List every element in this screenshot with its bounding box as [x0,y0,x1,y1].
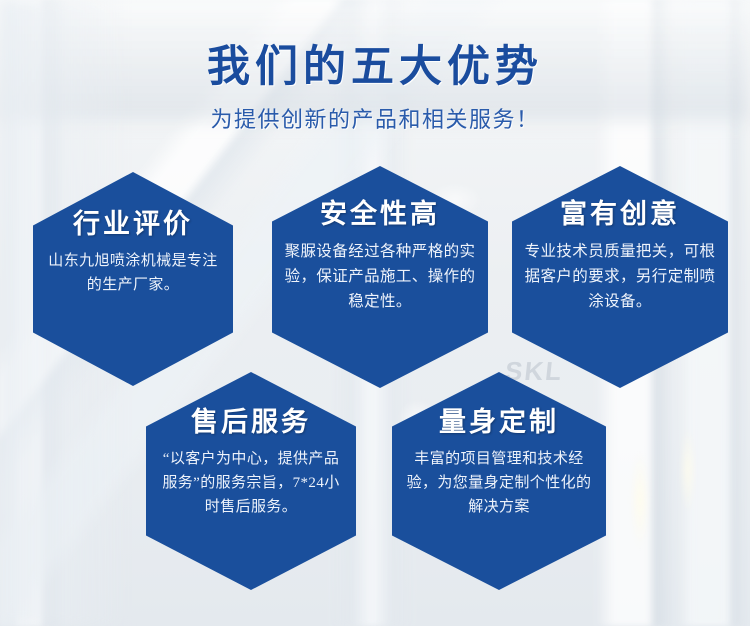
page-title: 我们的五大优势 [0,0,750,92]
advantage-card-content: 富有创意 专业技术员质量把关，可根据客户的要求，另行定制喷涂设备。 [512,200,728,314]
advantage-title: 行业评价 [45,210,221,240]
advantage-card-content: 安全性高 聚脲设备经过各种严格的实验，保证产品施工、操作的稳定性。 [272,200,488,314]
advantage-title: 售后服务 [158,408,344,438]
advantage-card-content: 行业评价 山东九旭喷涂机械是专注的生产厂家。 [33,210,233,297]
advantage-body: 丰富的项目管理和技术经验，为您量身定制个性化的解决方案 [404,447,594,520]
advantage-body: 专业技术员质量把关，可根据客户的要求，另行定制喷涂设备。 [524,239,716,314]
advantage-body: 聚脲设备经过各种严格的实验，保证产品施工、操作的稳定性。 [284,239,476,314]
advantage-card-content: 售后服务 “以客户为中心，提供产品服务”的服务宗旨，7*24小时售后服务。 [146,408,356,520]
advantage-body: “以客户为中心，提供产品服务”的服务宗旨，7*24小时售后服务。 [158,447,344,520]
advantage-body: 山东九旭喷涂机械是专注的生产厂家。 [45,249,221,298]
advantage-title: 量身定制 [404,408,594,438]
advantages-banner: SKL 我们的五大优势 为提供创新的产品和相关服务！ 行业评价 山东九旭喷涂机械… [0,0,750,626]
banner-header: 我们的五大优势 为提供创新的产品和相关服务！ [0,0,750,134]
advantage-title: 富有创意 [524,200,716,230]
advantage-card-content: 量身定制 丰富的项目管理和技术经验，为您量身定制个性化的解决方案 [392,408,606,520]
advantage-title: 安全性高 [284,200,476,230]
page-subtitle: 为提供创新的产品和相关服务！ [0,92,750,134]
